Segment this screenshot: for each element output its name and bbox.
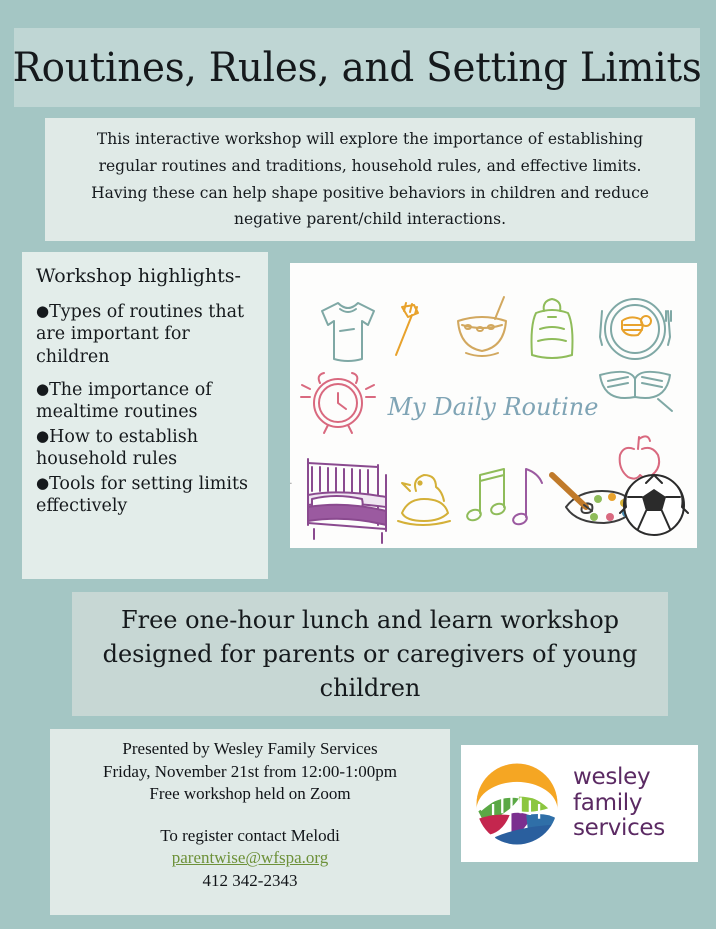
highlight-list-item: ●Types of routines that are important fo… (36, 301, 254, 368)
apple-icon (620, 436, 659, 478)
bullet-icon: ● (36, 474, 49, 492)
logo-line-3: services (573, 816, 665, 842)
bullet-icon: ● (36, 427, 49, 445)
page-title: Routines, Rules, and Setting Limits (13, 48, 702, 88)
bed-icon (308, 459, 386, 543)
open-book-icon (600, 372, 672, 411)
dinner-plate-icon (600, 299, 671, 359)
platform-text: Free workshop held on Zoom (149, 783, 350, 806)
bullet-icon: ● (36, 380, 49, 398)
alarm-clock-icon (301, 373, 375, 433)
rubber-duck-icon (398, 475, 450, 525)
email-link[interactable]: parentwise@wfspa.org (172, 847, 329, 870)
highlight-text: The importance of mealtime routines (36, 380, 212, 422)
highlight-text: Types of routines that are important for… (36, 302, 244, 367)
music-notes-icon (466, 469, 542, 526)
wesley-bridge-logo-icon (471, 758, 563, 850)
description-text: This interactive workshop will explore t… (70, 126, 670, 233)
workshop-banner: Free one-hour lunch and learn workshop d… (72, 592, 668, 716)
illustration-caption: My Daily Routine (387, 393, 599, 421)
bullet-icon: ● (36, 302, 49, 320)
daily-routine-illustration: My Daily Routine Adobe Stock | #67228213… (290, 263, 697, 548)
title-banner: Routines, Rules, and Setting Limits (14, 28, 700, 107)
toothbrush-icon (396, 303, 418, 355)
workshop-highlights-panel: Workshop highlights- ●Types of routines … (22, 252, 268, 579)
soccer-ball-icon (620, 475, 688, 535)
date-time-text: Friday, November 21st from 12:00-1:00pm (103, 761, 397, 784)
highlight-text: How to establish household rules (36, 427, 198, 469)
routine-icons-artwork: My Daily Routine (290, 263, 697, 548)
highlight-list-item: ●How to establish household rules (36, 426, 254, 471)
tshirt-icon (322, 303, 374, 361)
adobe-stock-watermark: Adobe Stock | #672282135 (290, 426, 292, 540)
phone-text: 412 342-2343 (203, 870, 298, 893)
description-panel: This interactive workshop will explore t… (45, 118, 695, 241)
wesley-family-services-logo: wesley family services (461, 745, 698, 862)
backpack-icon (532, 299, 573, 358)
highlight-list-item: ●Tools for setting limits effectively (36, 473, 254, 518)
contact-panel: Presented by Wesley Family Services Frid… (50, 729, 450, 915)
flyer-page: Routines, Rules, and Setting Limits This… (0, 0, 716, 929)
highlight-list-item: ●The importance of mealtime routines (36, 379, 254, 424)
presented-by-text: Presented by Wesley Family Services (122, 738, 377, 761)
banner-text: Free one-hour lunch and learn workshop d… (90, 603, 650, 705)
register-text: To register contact Melodi (160, 825, 340, 848)
paint-palette-icon (552, 475, 634, 523)
cereal-bowl-icon (458, 297, 506, 356)
logo-wordmark: wesley family services (573, 765, 665, 842)
highlight-text: Tools for setting limits effectively (36, 474, 248, 516)
logo-line-2: family (573, 791, 665, 817)
logo-line-1: wesley (573, 765, 665, 791)
highlights-heading: Workshop highlights- (36, 266, 254, 287)
